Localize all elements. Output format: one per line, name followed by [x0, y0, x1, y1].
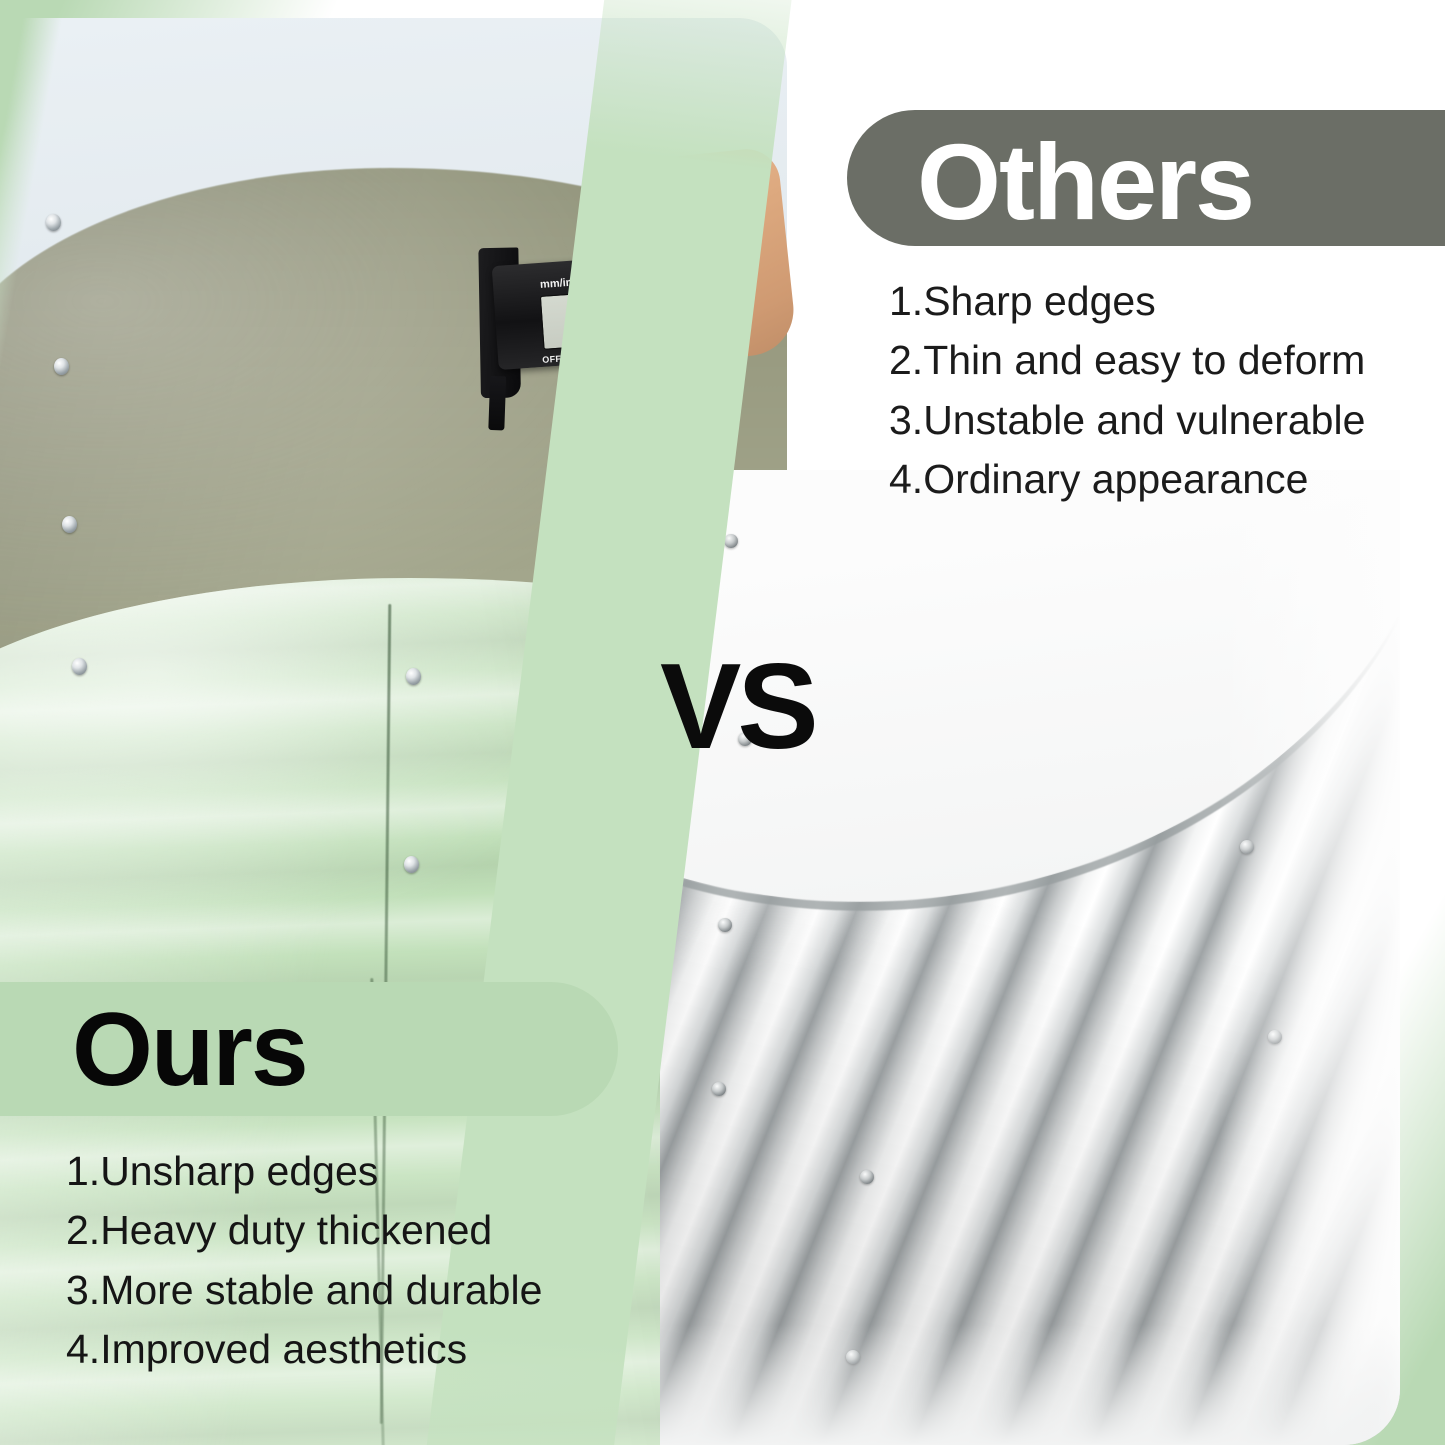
list-item: 1.Sharp edges	[889, 272, 1429, 331]
list-item: 3.More stable and durable	[66, 1261, 626, 1320]
product-photo-others	[660, 470, 1400, 1445]
comparison-infographic: mm/inch 15 OFF ON ZERO VS Others 1.Sharp…	[0, 0, 1445, 1445]
rivet	[718, 918, 732, 932]
rivet	[46, 214, 61, 231]
photo-edge-fade	[1220, 470, 1400, 1445]
rivet	[72, 658, 87, 675]
ours-feature-list: 1.Unsharp edges 2.Heavy duty thickened 3…	[66, 1142, 626, 1380]
rivet	[54, 358, 69, 375]
rivet	[406, 668, 421, 685]
others-feature-list: 1.Sharp edges 2.Thin and easy to deform …	[889, 272, 1429, 510]
rivet	[712, 1082, 726, 1096]
list-item: 4.Ordinary appearance	[889, 450, 1429, 509]
rivet	[404, 856, 419, 873]
others-title: Others	[917, 118, 1253, 245]
list-item: 2.Heavy duty thickened	[66, 1201, 626, 1260]
list-item: 2.Thin and easy to deform	[889, 331, 1429, 390]
list-item: 4.Improved aesthetics	[66, 1320, 626, 1379]
list-item: 1.Unsharp edges	[66, 1142, 626, 1201]
ours-title: Ours	[72, 988, 307, 1113]
list-item: 3.Unstable and vulnerable	[889, 391, 1429, 450]
rivet	[62, 516, 77, 533]
rivet	[860, 1170, 874, 1184]
rivet	[724, 534, 738, 548]
caliper-jaw-tip	[488, 376, 506, 431]
photo-bottom-fade	[660, 1325, 1400, 1445]
vs-label: VS	[660, 645, 815, 767]
